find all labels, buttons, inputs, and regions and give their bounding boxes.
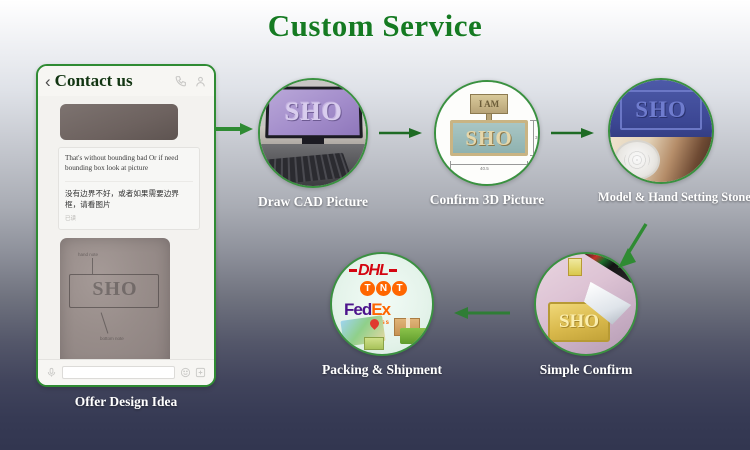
sketch-leader-line-top xyxy=(92,258,93,274)
dimension-label-height: 30 xyxy=(535,135,540,140)
packing-shipment-thumbnail[interactable]: DHL T N T FedEx Express xyxy=(330,252,434,356)
keyboard xyxy=(260,144,366,186)
3d-render-artwork: I AM SHO 40.5 30 xyxy=(436,82,538,184)
pendant-monogram: SHO xyxy=(559,311,599,333)
draw-cad-picture-thumbnail[interactable]: SHO xyxy=(258,78,368,188)
sketch-note-top: hand note xyxy=(78,252,98,258)
step-confirm-3d-picture[interactable]: I AM SHO 40.5 30 Confirm 3D Picture xyxy=(424,80,550,208)
wax-monogram: SHO xyxy=(635,97,687,123)
message-text-cn: 没有边界不好，或者如果需要边界框，请看图片 xyxy=(65,181,193,210)
sketch-leader-line-bottom xyxy=(101,312,109,333)
step-model-hand-setting-stone[interactable]: SHO Model & Hand Setting Stone xyxy=(598,78,724,205)
hand-drawn-sketch[interactable]: hand note SHO bottom note xyxy=(60,238,170,359)
tnt-letter-3: T xyxy=(392,281,407,296)
small-parcel xyxy=(364,337,384,350)
step-offer-design-idea: Offer Design Idea xyxy=(36,388,216,410)
tnt-letter-1: T xyxy=(360,281,375,296)
stone-dish xyxy=(614,140,660,180)
emoji-icon[interactable] xyxy=(180,367,191,378)
monitor-cad-artwork: SHO xyxy=(260,80,366,186)
3d-monogram: SHO xyxy=(465,126,512,151)
arrow-3d-to-model xyxy=(551,127,595,139)
dimension-line-width xyxy=(450,164,528,165)
arrow-confirm-to-packing xyxy=(452,306,510,320)
chat-phone-mockup: ‹ Contact us That's without bounding bad… xyxy=(36,64,216,387)
chat-input-bar[interactable] xyxy=(38,359,214,385)
chat-message-bubble: That's without bounding bad Or if need b… xyxy=(58,147,200,230)
blue-wax-model: SHO xyxy=(610,80,712,139)
confirm-3d-picture-thumbnail[interactable]: I AM SHO 40.5 30 xyxy=(434,80,540,186)
dimension-label-width: 40.5 xyxy=(480,166,489,171)
step-label-draw-cad-picture: Draw CAD Picture xyxy=(248,194,378,210)
step-label-model-hand-setting-stone: Model & Hand Setting Stone xyxy=(598,190,724,205)
3d-tag-text: I AM xyxy=(470,94,508,114)
tnt-letter-2: N xyxy=(376,281,391,296)
page-title: Custom Service xyxy=(0,8,750,44)
step-label-simple-confirm: Simple Confirm xyxy=(522,362,650,378)
contact-person-icon[interactable] xyxy=(194,75,207,88)
voice-icon[interactable] xyxy=(46,367,57,378)
arrow-model-to-confirm xyxy=(612,222,652,270)
courier-logos-artwork: DHL T N T FedEx Express xyxy=(332,254,432,354)
model-hand-setting-thumbnail[interactable]: SHO xyxy=(608,78,714,184)
sketch-note-bottom: bottom note xyxy=(100,336,124,342)
phone-call-icon[interactable] xyxy=(174,75,187,88)
arrow-idea-to-cad xyxy=(216,122,254,136)
redacted-photo-thumbnail[interactable] xyxy=(60,104,178,140)
chat-header: ‹ Contact us xyxy=(38,66,214,96)
tnt-logo: T N T xyxy=(360,281,407,296)
fedex-logo-fed: Fed xyxy=(344,300,371,319)
chat-message-list[interactable]: That's without bounding bad Or if need b… xyxy=(38,96,214,359)
dhl-logo-text: DHL xyxy=(358,262,388,279)
message-input[interactable] xyxy=(62,366,175,379)
step-simple-confirm[interactable]: SHO Simple Confirm xyxy=(522,252,650,378)
step-label-offer-design-idea: Offer Design Idea xyxy=(36,394,216,410)
arrow-cad-to-3d xyxy=(379,127,423,139)
wax-plate: SHO xyxy=(620,90,702,130)
add-attachment-icon[interactable] xyxy=(195,367,206,378)
message-text-en: That's without bounding bad Or if need b… xyxy=(65,153,193,174)
delivery-truck xyxy=(400,328,428,344)
step-packing-shipment[interactable]: DHL T N T FedEx Express Packing & Shipme… xyxy=(318,252,446,378)
keyboard-keys xyxy=(260,153,352,186)
step-label-packing-shipment: Packing & Shipment xyxy=(318,362,446,378)
dhl-logo: DHL xyxy=(348,262,398,280)
3d-plate: SHO xyxy=(450,120,528,156)
step-draw-cad-picture[interactable]: SHO Draw CAD Picture xyxy=(248,78,378,210)
pendant-top-tag xyxy=(568,258,582,276)
step-label-confirm-3d-picture: Confirm 3D Picture xyxy=(424,192,550,208)
dimension-line-height xyxy=(533,120,534,156)
back-chevron-icon[interactable]: ‹ xyxy=(45,73,51,90)
monitor-screen: SHO xyxy=(265,87,363,139)
chat-header-title: Contact us xyxy=(55,71,133,91)
wax-model-artwork: SHO xyxy=(610,80,712,182)
message-meta: 已读 xyxy=(65,216,193,224)
sketch-monogram: SHO xyxy=(80,278,150,301)
cad-screen-text: SHO xyxy=(285,97,343,127)
